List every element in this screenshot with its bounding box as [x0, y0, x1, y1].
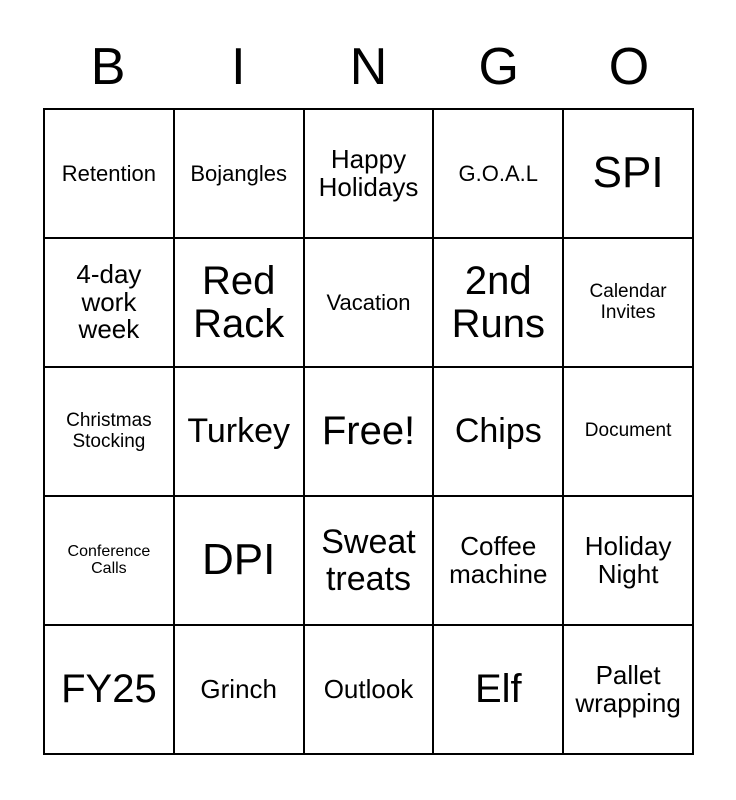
- bingo-header-letter-i: I: [173, 34, 303, 100]
- bingo-cell[interactable]: Chips: [434, 368, 564, 497]
- bingo-header-letter-o: O: [564, 34, 694, 100]
- bingo-cell-label: DPI: [202, 537, 275, 584]
- bingo-cell-label: Bojangles: [190, 162, 287, 185]
- bingo-cell-label: Calendar Invites: [590, 282, 667, 322]
- bingo-cell[interactable]: Conference Calls: [45, 497, 175, 626]
- bingo-cell[interactable]: Calendar Invites: [564, 239, 694, 368]
- bingo-cell[interactable]: Document: [564, 368, 694, 497]
- bingo-cell[interactable]: Red Rack: [175, 239, 305, 368]
- bingo-cell-label: Happy Holidays: [319, 146, 419, 201]
- bingo-cell-label: Sweat treats: [321, 524, 416, 596]
- bingo-cell[interactable]: Retention: [45, 110, 175, 239]
- bingo-cell-label: Coffee machine: [449, 533, 547, 588]
- bingo-header-letter-g: G: [434, 34, 564, 100]
- bingo-cell-label: 4-day work week: [76, 261, 141, 344]
- bingo-cell-label: Document: [585, 421, 672, 441]
- bingo-grid: RetentionBojanglesHappy HolidaysG.O.A.LS…: [43, 108, 694, 755]
- bingo-cell-label: Turkey: [187, 413, 290, 449]
- bingo-cell[interactable]: Happy Holidays: [305, 110, 435, 239]
- bingo-cell[interactable]: Elf: [434, 626, 564, 755]
- bingo-cell[interactable]: 4-day work week: [45, 239, 175, 368]
- bingo-cell-label: Christmas Stocking: [66, 411, 152, 451]
- bingo-cell-label: Red Rack: [193, 260, 284, 345]
- bingo-cell[interactable]: Coffee machine: [434, 497, 564, 626]
- bingo-cell-label: 2nd Runs: [452, 260, 545, 345]
- bingo-cell-label: G.O.A.L: [459, 162, 538, 185]
- bingo-cell-label: Free!: [322, 410, 415, 452]
- bingo-cell[interactable]: Sweat treats: [305, 497, 435, 626]
- bingo-cell-label: Conference Calls: [68, 544, 151, 578]
- bingo-cell[interactable]: Outlook: [305, 626, 435, 755]
- bingo-cell-label: FY25: [61, 668, 157, 710]
- bingo-cell[interactable]: Grinch: [175, 626, 305, 755]
- bingo-cell-label: Holiday Night: [585, 533, 672, 588]
- bingo-cell[interactable]: SPI: [564, 110, 694, 239]
- bingo-cell-label: Outlook: [324, 676, 414, 704]
- bingo-cell-label: Grinch: [200, 676, 277, 704]
- bingo-cell-label: SPI: [593, 150, 664, 197]
- bingo-cell[interactable]: Holiday Night: [564, 497, 694, 626]
- bingo-cell[interactable]: 2nd Runs: [434, 239, 564, 368]
- bingo-cell[interactable]: Bojangles: [175, 110, 305, 239]
- bingo-cell[interactable]: DPI: [175, 497, 305, 626]
- bingo-cell-label: Retention: [62, 162, 156, 185]
- bingo-header-letter-n: N: [303, 34, 433, 100]
- bingo-cell[interactable]: G.O.A.L: [434, 110, 564, 239]
- bingo-cell[interactable]: Christmas Stocking: [45, 368, 175, 497]
- bingo-cell[interactable]: Vacation: [305, 239, 435, 368]
- bingo-cell-label: Elf: [475, 668, 522, 710]
- bingo-header-letter-b: B: [43, 34, 173, 100]
- bingo-cell-label: Chips: [455, 413, 542, 449]
- bingo-cell[interactable]: Turkey: [175, 368, 305, 497]
- bingo-header-row: B I N G O: [43, 34, 694, 100]
- bingo-cell-label: Pallet wrapping: [575, 662, 681, 717]
- bingo-cell-label: Vacation: [327, 291, 411, 314]
- bingo-cell[interactable]: Free!: [305, 368, 435, 497]
- bingo-cell[interactable]: FY25: [45, 626, 175, 755]
- bingo-cell[interactable]: Pallet wrapping: [564, 626, 694, 755]
- bingo-card: B I N G O RetentionBojanglesHappy Holida…: [0, 0, 736, 800]
